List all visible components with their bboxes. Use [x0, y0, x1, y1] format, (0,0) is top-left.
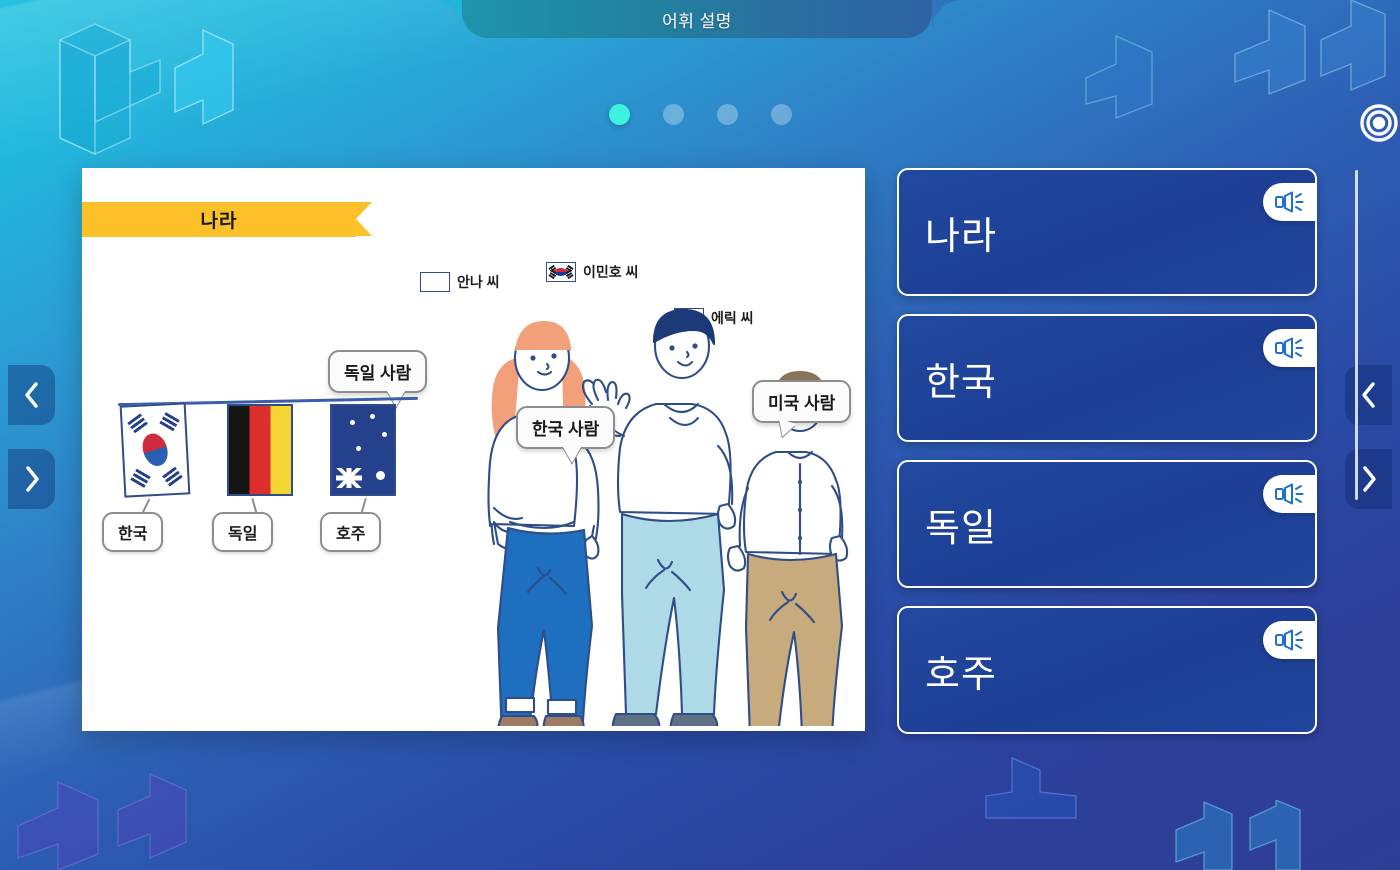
next-button-left[interactable]	[8, 449, 55, 509]
title-bar: 어휘 설명	[462, 0, 932, 38]
name-tag-anna: 안나 씨	[420, 272, 500, 292]
vocabulary-list: 나라 한국 독일	[897, 168, 1317, 752]
decor-block-bottom-right	[1170, 800, 1330, 870]
chevron-left-icon	[1360, 381, 1378, 409]
speaker-icon[interactable]	[1263, 329, 1317, 367]
pagination-dot-4[interactable]	[771, 104, 792, 125]
name-tag-label: 안나 씨	[457, 272, 500, 292]
germany-flag-icon	[227, 404, 293, 496]
vocabulary-item-hanguk[interactable]: 한국	[897, 314, 1317, 442]
scroll-rail[interactable]	[1355, 170, 1358, 500]
titlebar-notch-left	[432, 0, 462, 30]
flag-label-korea: 한국	[102, 512, 163, 552]
speech-bubble-text: 미국 사람	[768, 394, 835, 413]
vocabulary-word: 한국	[925, 351, 997, 406]
target-spiral-icon[interactable]	[1358, 102, 1400, 144]
page-title: 어휘 설명	[662, 7, 732, 32]
bubble-tail	[563, 447, 581, 463]
speech-bubble-american: 미국 사람	[752, 380, 851, 423]
prev-button-right[interactable]	[1345, 365, 1392, 425]
speech-bubble-text: 한국 사람	[532, 420, 599, 439]
title-bar-container: 어휘 설명	[0, 0, 1400, 40]
pagination-dot-3[interactable]	[717, 104, 738, 125]
vocabulary-word: 독일	[925, 497, 997, 552]
lesson-card: 나라 안나 씨 이민호 씨 에릭 씨	[82, 168, 865, 731]
vocabulary-item-nara[interactable]: 나라	[897, 168, 1317, 296]
speech-bubble-text: 독일 사람	[344, 364, 411, 383]
speaker-icon[interactable]	[1263, 475, 1317, 513]
australia-flag-icon	[330, 404, 396, 496]
vocabulary-item-dogil[interactable]: 독일	[897, 460, 1317, 588]
titlebar-notch-right	[932, 0, 962, 30]
chevron-right-icon	[23, 465, 41, 493]
app-root: 어휘 설명 나라 안나 씨 이민호 씨	[0, 0, 1400, 870]
chevron-left-icon	[23, 381, 41, 409]
decor-block-bottom-left	[0, 770, 230, 870]
korea-flag-icon	[120, 402, 191, 497]
speech-bubble-german: 독일 사람	[328, 350, 427, 393]
flag-label-germany: 독일	[212, 512, 273, 552]
speaker-icon[interactable]	[1263, 621, 1317, 659]
speech-bubble-korean: 한국 사람	[516, 406, 615, 449]
pagination-dot-1[interactable]	[609, 104, 630, 125]
vocabulary-word: 나라	[925, 205, 997, 260]
name-tag-iminho: 이민호 씨	[546, 262, 638, 282]
pagination-dots	[0, 104, 1400, 125]
prev-button-left[interactable]	[8, 365, 55, 425]
people-illustration	[402, 296, 862, 726]
pagination-dot-2[interactable]	[663, 104, 684, 125]
germany-flag-icon	[420, 272, 450, 292]
decor-block-bottom-mid	[960, 752, 1100, 852]
name-tag-label: 이민호 씨	[583, 262, 638, 282]
flag-label-australia: 호주	[320, 512, 381, 552]
vocabulary-word: 호주	[925, 643, 997, 698]
speaker-icon[interactable]	[1263, 183, 1317, 221]
illustration-stage: 안나 씨 이민호 씨 에릭 씨	[82, 168, 865, 731]
vocabulary-item-hoju[interactable]: 호주	[897, 606, 1317, 734]
chevron-right-icon	[1360, 465, 1378, 493]
next-button-right[interactable]	[1345, 449, 1392, 509]
korea-flag-icon	[546, 262, 576, 282]
